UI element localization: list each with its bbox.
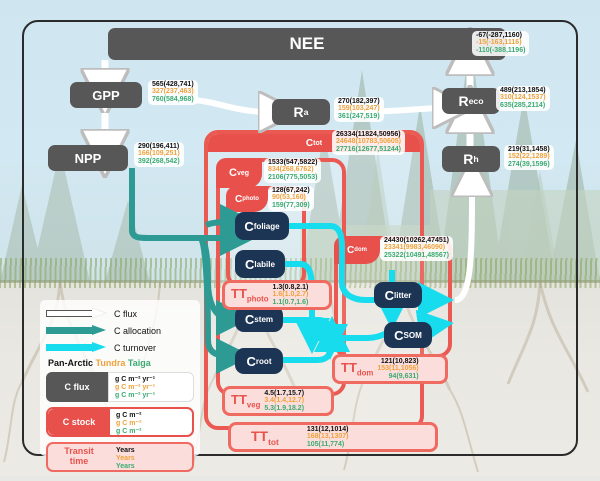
reco-tundra: 310(124,1537) <box>500 94 546 101</box>
clitter-box[interactable]: Clitter <box>374 282 422 308</box>
tt-veg-taiga: 5.3(1.9,18.2) <box>264 405 304 413</box>
cdom-taiga: 25322(10491,48567) <box>384 252 449 259</box>
tt-veg-box: TTveg 4.5(1.7,15.7) 3.4(1.4,12.7) 5.3(1.… <box>222 386 334 416</box>
cveg-values: 1533(547,5822) 834(268,6762) 2106(775,50… <box>264 158 321 183</box>
unit-transit-taiga: Years <box>116 463 192 471</box>
cveg-taiga: 2106(775,5053) <box>268 174 317 181</box>
nee-taiga: -110(-388,1196) <box>476 47 525 54</box>
clabile-label: C <box>245 257 254 272</box>
npp-label: NPP <box>75 151 102 166</box>
reco-taiga: 635(285,2114) <box>500 102 546 109</box>
legend-label-c-flux: C flux <box>114 309 137 319</box>
c-flux-arrow-icon <box>46 309 108 318</box>
reco-box[interactable]: Reco <box>442 88 500 114</box>
tt-dom-pan-arctic: 121(10,823) <box>377 358 418 366</box>
croot-box[interactable]: Croot <box>235 348 283 374</box>
reco-sub: eco <box>469 96 484 106</box>
tt-veg-tundra: 3.4(1.4,12.7) <box>264 397 304 405</box>
gpp-box[interactable]: GPP <box>70 82 142 108</box>
tt-dom-label: TTdom <box>335 360 373 378</box>
clabile-sub: labile <box>254 260 275 269</box>
gpp-values: 565(428,741) 327(237,463) 760(584,968) <box>148 80 198 105</box>
tt-photo-label: TTphoto <box>225 286 269 304</box>
csom-label: C <box>394 328 403 343</box>
region-taiga: Taiga <box>128 358 151 368</box>
tt-tot-label: TTtot <box>231 428 279 447</box>
legend-unit-transit: Transit time Years Years Years <box>46 442 194 472</box>
tt-photo-box: TTphoto 1.3(0.8,2.1) 1.6(1.0,2.7) 1.1(0.… <box>222 280 332 310</box>
cveg-pan-arctic: 1533(547,5822) <box>268 159 317 166</box>
tt-dom-taiga: 94(9,631) <box>377 373 418 381</box>
cphoto-tundra: 90(53,160) <box>272 194 310 201</box>
ra-label: R <box>294 104 304 120</box>
legend-units-stock-values: g C m⁻² g C m⁻² g C m⁻² <box>110 409 192 435</box>
region-tundra: Tundra <box>96 358 126 368</box>
tt-photo-taiga: 1.1(0.7,1.6) <box>273 299 309 307</box>
unit-transit-tundra: Years <box>116 455 192 463</box>
legend-key-transit-time: Transit time <box>48 444 110 470</box>
transit-key-line2: time <box>70 457 89 467</box>
legend-label-c-allocation: C allocation <box>114 326 161 336</box>
gpp-tundra: 327(237,463) <box>152 88 194 95</box>
rh-pan-arctic: 219(31,1458) <box>508 146 550 153</box>
tt-tot-taiga: 105(11,774) <box>307 441 349 449</box>
cfoliage-label: C <box>244 219 253 234</box>
croot-label: C <box>246 354 255 369</box>
nee-pan-arctic: -67(-287,1160) <box>476 32 525 39</box>
cstem-sub: stem <box>254 315 273 324</box>
reco-values: 489(213,1854) 310(124,1537) 635(285,2114… <box>496 86 550 111</box>
cphoto-taiga: 159(77,309) <box>272 202 310 209</box>
legend-row-c-turnover: C turnover <box>46 340 194 355</box>
ra-box[interactable]: Ra <box>272 99 330 125</box>
ra-taiga: 361(247,519) <box>338 113 380 120</box>
rh-values: 219(31,1458) 152(22,1289) 274(39,1596) <box>504 145 554 170</box>
tt-photo-tundra: 1.6(1.0,2.7) <box>273 291 309 299</box>
clitter-label: C <box>385 288 394 303</box>
cdom-tundra: 23341(9983,46090) <box>384 244 449 251</box>
csom-sub: SOM <box>404 331 422 340</box>
tt-veg-pan-arctic: 4.5(1.7,15.7) <box>264 390 304 398</box>
npp-values: 290(196,411) 166(109,251) 392(268,542) <box>134 142 184 167</box>
cphoto-pan-arctic: 128(67,242) <box>272 187 310 194</box>
tt-veg-label: TTveg <box>225 392 260 410</box>
nee-box[interactable]: NEE <box>108 28 506 60</box>
ra-sub: a <box>304 107 309 117</box>
rh-label: R <box>463 151 473 167</box>
gpp-pan-arctic: 565(428,741) <box>152 81 194 88</box>
tt-tot-pan-arctic: 131(12,1014) <box>307 426 349 434</box>
gpp-label: GPP <box>92 88 119 103</box>
legend-key-c-stock: C stock <box>48 409 110 435</box>
nee-tundra: -15(-163,1116) <box>476 39 525 46</box>
npp-taiga: 392(268,542) <box>138 158 180 165</box>
unit-flux-pan-arctic: g C m⁻² yr⁻¹ <box>115 376 193 384</box>
diagram-canvas: Ctot Cveg Cphoto Cdom <box>0 0 600 476</box>
cveg-tundra: 834(268,6762) <box>268 166 317 173</box>
reco-label: R <box>458 93 468 109</box>
nee-values: -67(-287,1160) -15(-163,1116) -110(-388,… <box>472 31 529 56</box>
cfoliage-sub: foliage <box>254 222 280 231</box>
region-pan-arctic: Pan-Arctic <box>48 358 93 368</box>
tt-tot-tundra: 168(13,1307) <box>307 433 349 441</box>
unit-flux-taiga: g C m⁻² yr⁻¹ <box>115 392 193 400</box>
cfoliage-box[interactable]: Cfoliage <box>235 212 289 240</box>
unit-stock-pan-arctic: g C m⁻² <box>116 412 192 420</box>
legend-units-flux-values: g C m⁻² yr⁻¹ g C m⁻² yr⁻¹ g C m⁻² yr⁻¹ <box>108 372 194 402</box>
npp-tundra: 166(109,251) <box>138 150 180 157</box>
ra-pan-arctic: 270(182,397) <box>338 98 380 105</box>
legend-unit-flux: C flux g C m⁻² yr⁻¹ g C m⁻² yr⁻¹ g C m⁻²… <box>46 372 194 402</box>
legend-regions: Pan-Arctic Tundra Taiga <box>48 358 194 368</box>
c-turnover-arrow-icon <box>46 343 108 352</box>
legend-row-c-allocation: C allocation <box>46 323 194 338</box>
legend-row-c-flux: C flux <box>46 306 194 321</box>
cdom-values: 24430(10262,47451) 23341(9983,46090) 253… <box>380 236 453 261</box>
c-allocation-arrow-icon <box>46 326 108 335</box>
legend-label-c-turnover: C turnover <box>114 343 156 353</box>
npp-box[interactable]: NPP <box>48 145 128 171</box>
cstem-label: C <box>245 312 254 327</box>
legend-unit-stock: C stock g C m⁻² g C m⁻² g C m⁻² <box>46 407 194 437</box>
clabile-box[interactable]: Clabile <box>235 250 285 278</box>
clitter-sub: litter <box>394 291 411 300</box>
ra-values: 270(182,397) 159(103,247) 361(247,519) <box>334 97 384 122</box>
cdom-pan-arctic: 24430(10262,47451) <box>384 237 449 244</box>
rh-tundra: 152(22,1289) <box>508 153 550 160</box>
ctot-values: 26334(11824,50956) 24648(10783,50605) 27… <box>332 130 405 155</box>
reco-pan-arctic: 489(213,1854) <box>500 87 546 94</box>
tt-dom-box: TTdom 121(10,823) 153(11,1056) 94(9,631) <box>332 354 448 384</box>
rh-box[interactable]: Rh <box>442 146 500 172</box>
rh-taiga: 274(39,1596) <box>508 161 550 168</box>
npp-pan-arctic: 290(196,411) <box>138 143 180 150</box>
legend-units-transit-values: Years Years Years <box>110 444 192 470</box>
nee-label: NEE <box>290 34 325 54</box>
rh-sub: h <box>473 154 478 164</box>
ctot-taiga: 27716(12677,51244) <box>336 146 401 153</box>
ctot-tundra: 24648(10783,50605) <box>336 138 401 145</box>
cphoto-values: 128(67,242) 90(53,160) 159(77,309) <box>268 186 314 211</box>
unit-stock-taiga: g C m⁻² <box>116 428 192 436</box>
legend-key-c-flux: C flux <box>46 372 108 402</box>
unit-stock-tundra: g C m⁻² <box>116 420 192 428</box>
unit-flux-tundra: g C m⁻² yr⁻¹ <box>115 384 193 392</box>
tt-photo-pan-arctic: 1.3(0.8,2.1) <box>273 284 309 292</box>
csom-box[interactable]: CSOM <box>384 322 432 348</box>
tt-tot-box: TTtot 131(12,1014) 168(13,1307) 105(11,7… <box>228 422 438 452</box>
unit-transit-pan-arctic: Years <box>116 447 192 455</box>
ra-tundra: 159(103,247) <box>338 105 380 112</box>
legend-panel: C flux C allocation C turnover Pan-Arcti… <box>40 300 200 456</box>
ctot-pan-arctic: 26334(11824,50956) <box>336 131 401 138</box>
croot-sub: root <box>256 357 272 366</box>
tt-dom-tundra: 153(11,1056) <box>377 365 418 373</box>
gpp-taiga: 760(584,968) <box>152 96 194 103</box>
